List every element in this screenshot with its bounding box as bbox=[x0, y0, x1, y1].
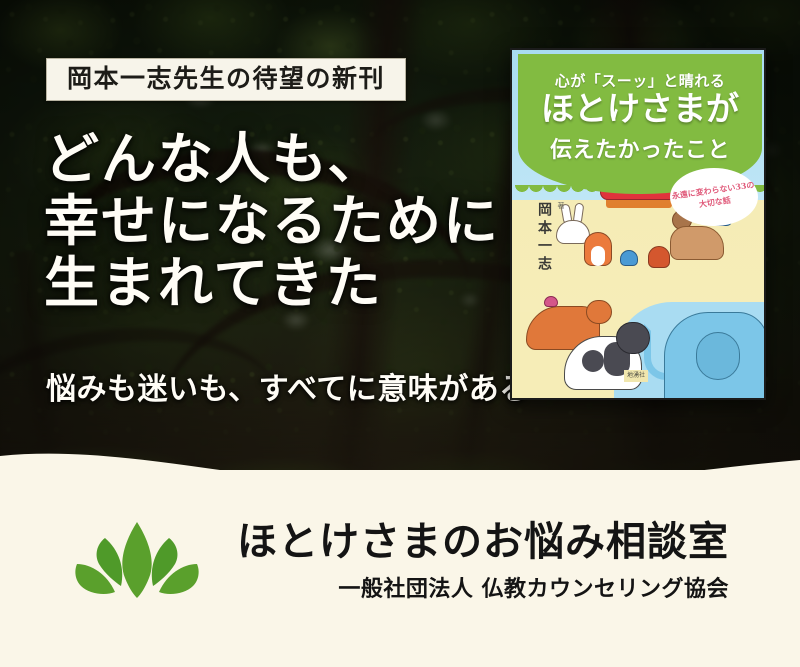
promotional-banner: 岡本一志先生の待望の新刊 どんな人も、 幸せになるために 生まれてきた 悩みも迷… bbox=[0, 0, 800, 667]
book-title-sub: 伝えたかったこと bbox=[518, 132, 762, 164]
book-catchphrase: 心が「スーッ」と晴れる bbox=[518, 70, 762, 91]
book-seal-badge-label: 永遠に変わらない33の大切な話 bbox=[669, 179, 759, 214]
blue-bird-illustration bbox=[620, 250, 638, 266]
book-seal-badge: 永遠に変わらない33の大切な話 bbox=[670, 168, 758, 226]
squirrel-illustration bbox=[648, 246, 670, 268]
book-imprint: 地湧社 bbox=[624, 370, 648, 382]
new-release-badge: 岡本一志先生の待望の新刊 bbox=[46, 58, 406, 101]
cow-head-illustration bbox=[586, 300, 612, 324]
elephant-ear-illustration bbox=[696, 332, 740, 380]
lotus-logo-icon bbox=[71, 516, 203, 608]
footer-bar: ほとけさまのお悩み相談室 一般社団法人 仏教カウンセリング協会 bbox=[0, 470, 800, 667]
headline-line-1: どんな人も、 bbox=[44, 128, 514, 190]
book-cover-image[interactable]: 心が「スーッ」と晴れる ほとけさまが 伝えたかったこと 永遠に変わらない33の大… bbox=[510, 48, 766, 400]
page-title: どんな人も、 幸せになるために 生まれてきた bbox=[44, 128, 514, 314]
book-author-name: 岡本一志 bbox=[534, 202, 554, 274]
organization-name: ほとけさまのお悩み相談室 bbox=[237, 521, 729, 563]
book-title-main: ほとけさまが bbox=[518, 92, 762, 125]
pink-bird-illustration bbox=[544, 296, 558, 307]
deer-illustration bbox=[670, 226, 724, 260]
headline-line-2: 幸せになるために bbox=[44, 190, 514, 252]
book-author-label: 著 bbox=[556, 202, 566, 210]
panda-head-illustration bbox=[616, 322, 650, 354]
fox-belly-illustration bbox=[591, 246, 605, 266]
new-release-badge-label: 岡本一志先生の待望の新刊 bbox=[67, 66, 385, 91]
organization-subtitle: 一般社団法人 仏教カウンセリング協会 bbox=[237, 571, 729, 603]
panda-spot-illustration bbox=[582, 350, 604, 372]
headline-line-3: 生まれてきた bbox=[44, 252, 514, 314]
subheadline: 悩みも迷いも、すべてに意味がある bbox=[46, 364, 526, 408]
